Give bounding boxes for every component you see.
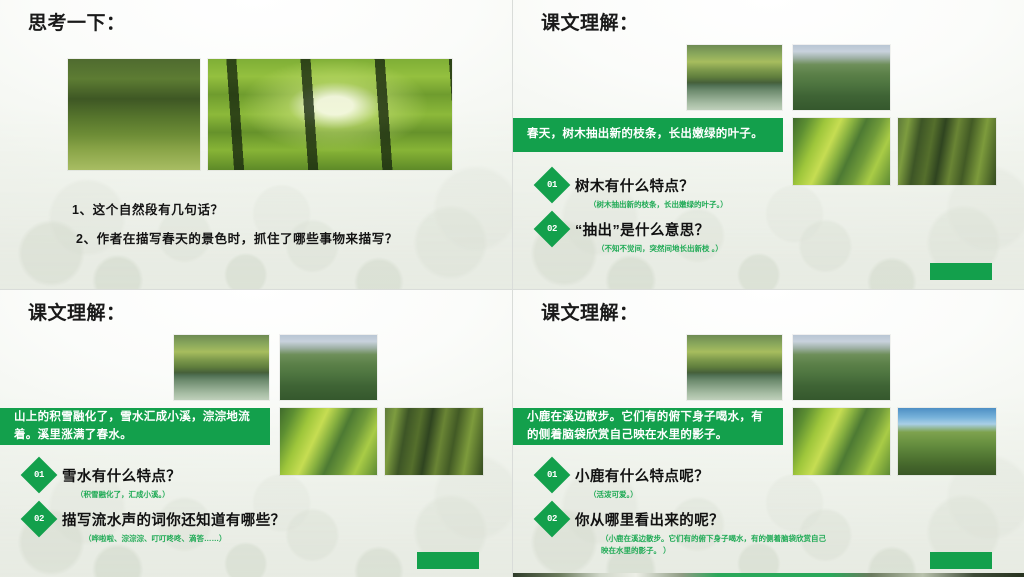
forest-grove-photo — [68, 59, 200, 170]
think-question-2: 2、作者在描写春天的景色时，抓住了哪些事物来描写？ — [76, 228, 398, 247]
slide-deer[interactable]: 课文理解： 小鹿在溪边散步。它们有的俯下身子喝水，有的侧着脑袋欣赏自己映在水里的… — [513, 290, 1024, 577]
text-banner: 山上的积雪融化了，雪水汇成小溪，淙淙地流着。溪里涨满了春水。 — [0, 408, 270, 445]
number-badge-icon: 02 — [534, 501, 571, 538]
slide-snowmelt[interactable]: 课文理解： 山上的积雪融化了，雪水汇成小溪，淙淙地流着。溪里涨满了春水。 01 … — [0, 290, 512, 577]
question-text: “抽出”是什么意思？ — [575, 219, 710, 240]
number-badge-icon: 02 — [534, 211, 571, 248]
green-corner-tab — [930, 552, 992, 569]
question-text: 树木有什么特点？ — [575, 175, 694, 196]
page-title: 课文理解： — [541, 8, 639, 35]
think-question-1: 1、这个自然段有几句话？ — [72, 199, 224, 218]
text-banner: 小鹿在溪边散步。它们有的俯下身子喝水，有的侧着脑袋欣赏自己映在水里的影子。 — [513, 408, 783, 445]
answer-text: （不知不觉间，突然间地长出新枝 。） — [597, 243, 728, 254]
question-text: 你从哪里看出来的呢？ — [575, 509, 724, 530]
meadow-creek-photo — [280, 408, 377, 475]
slide-trees[interactable]: 课文理解： 春天，树木抽出新的枝条，长出嫩绿的叶子。 01 树木有什么特点？ （… — [513, 0, 1024, 289]
green-hills-photo — [793, 45, 890, 110]
green-corner-tab — [930, 263, 992, 280]
question-item[interactable]: 01 树木有什么特点？ （树木抽出新的枝条，长出嫩绿的叶子。） — [539, 172, 728, 210]
question-list: 01 雪水有什么特点？ （积雪融化了，汇成小溪。） 02 描写流水声的词你还知道… — [26, 462, 286, 551]
lakeside-forest-photo — [174, 335, 269, 400]
slide-thumbnail-grid: 思考一下： 1、这个自然段有几句话？ 2、作者在描写春天的景色时，抓住了哪些事物… — [0, 0, 1024, 577]
mossy-rocks-photo — [385, 408, 483, 475]
answer-text: （小鹿在溪边散步。它们有的俯下身子喝水，有的侧着脑袋欣赏自己映在水里的影子。 ） — [601, 533, 831, 556]
green-hills-photo — [280, 335, 377, 400]
number-badge-icon: 01 — [534, 167, 571, 204]
lakeside-forest-photo — [687, 45, 782, 110]
number-badge-icon: 02 — [21, 501, 58, 538]
question-list: 01 树木有什么特点？ （树木抽出新的枝条，长出嫩绿的叶子。） 02 “抽出”是… — [539, 172, 728, 261]
filmstrip-edge — [513, 573, 1024, 577]
birch-grove-photo — [898, 408, 996, 475]
question-text: 雪水有什么特点？ — [62, 465, 181, 486]
question-item[interactable]: 01 雪水有什么特点？ （积雪融化了，汇成小溪。） — [26, 462, 286, 500]
question-text: 小鹿有什么特点呢？ — [575, 465, 709, 486]
green-corner-tab — [417, 552, 479, 569]
mossy-rocks-photo — [898, 118, 996, 185]
page-title: 课文理解： — [541, 298, 639, 325]
answer-text: （树木抽出新的枝条，长出嫩绿的叶子。） — [589, 199, 728, 210]
question-item[interactable]: 02 描写流水声的词你还知道有哪些？ （哗啦啦、淙淙淙、叮叮咚咚、滴答……） — [26, 506, 286, 544]
question-item[interactable]: 02 “抽出”是什么意思？ （不知不觉间，突然间地长出新枝 。） — [539, 216, 728, 254]
answer-text: （活泼可爱。） — [589, 489, 831, 500]
question-item[interactable]: 02 你从哪里看出来的呢？ （小鹿在溪边散步。它们有的俯下身子喝水，有的侧着脑袋… — [539, 506, 831, 556]
question-text: 描写流水声的词你还知道有哪些？ — [62, 509, 286, 530]
question-item[interactable]: 01 小鹿有什么特点呢？ （活泼可爱。） — [539, 462, 831, 500]
text-banner: 春天，树木抽出新的枝条，长出嫩绿的叶子。 — [513, 118, 783, 152]
page-title: 思考一下： — [28, 8, 126, 35]
green-hills-photo — [793, 335, 890, 400]
sunlit-canopy-photo — [208, 59, 452, 170]
number-badge-icon: 01 — [534, 457, 571, 494]
answer-text: （哗啦啦、淙淙淙、叮叮咚咚、滴答……） — [84, 533, 286, 544]
lakeside-forest-photo — [687, 335, 782, 400]
question-list: 01 小鹿有什么特点呢？ （活泼可爱。） 02 你从哪里看出来的呢？ （小鹿在溪… — [539, 462, 831, 562]
number-badge-icon: 01 — [21, 457, 58, 494]
meadow-creek-photo — [793, 118, 890, 185]
slide-think[interactable]: 思考一下： 1、这个自然段有几句话？ 2、作者在描写春天的景色时，抓住了哪些事物… — [0, 0, 512, 289]
answer-text: （积雪融化了，汇成小溪。） — [76, 489, 286, 500]
page-title: 课文理解： — [28, 298, 126, 325]
